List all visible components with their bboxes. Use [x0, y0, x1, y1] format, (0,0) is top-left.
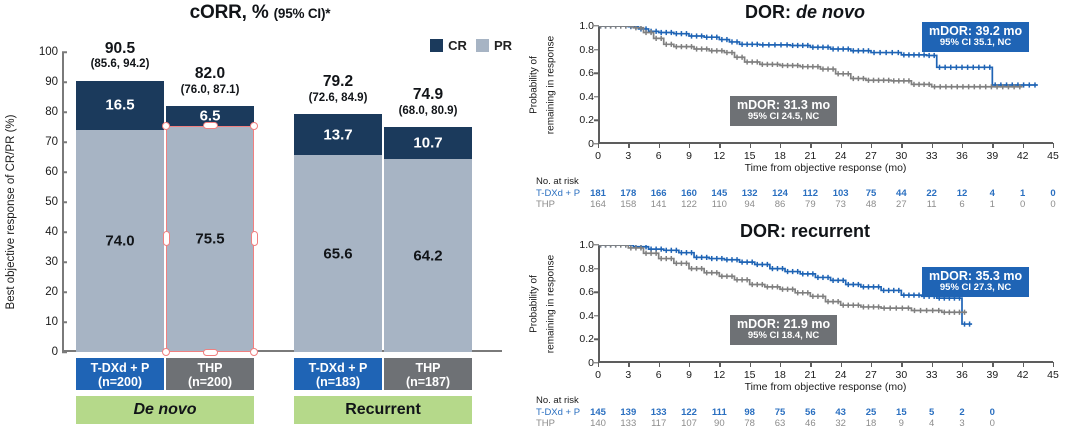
km-y-tick-label: 0.4 — [568, 91, 594, 103]
dor-recurrent-y-axis-label-line2: remaining in response — [546, 255, 557, 353]
dor-de-novo-x-axis-label: Time from objective response (mo) — [598, 162, 1053, 174]
risk-table-cell: 6 — [959, 199, 964, 210]
km-x-tick-label: 30 — [895, 369, 907, 381]
bar-y-tick-label: 100 — [28, 46, 58, 58]
risk-table-cell: 0 — [1050, 188, 1055, 199]
km-y-tick-label: 1.0 — [568, 20, 594, 32]
risk-table-cell: 140 — [590, 418, 606, 429]
median-dor-ci: 95% CI 18.4, NC — [737, 331, 830, 342]
legend-label-pr: PR — [494, 38, 512, 53]
legend-swatch-cr — [430, 39, 443, 52]
km-x-tick-label: 33 — [926, 150, 938, 162]
risk-table-cell: 103 — [833, 188, 849, 199]
km-x-tick-label: 21 — [804, 150, 816, 162]
risk-table-cell: 98 — [744, 407, 755, 418]
risk-table-cell: 111 — [712, 407, 727, 418]
risk-table-cell: 48 — [866, 199, 877, 210]
risk-table-cell: 2 — [959, 407, 964, 418]
bar-segment-cr-value: 16.5 — [76, 97, 164, 114]
km-y-tick-label: 0.6 — [568, 67, 594, 79]
risk-table-cell: 78 — [744, 418, 755, 429]
km-x-tick-label: 42 — [1017, 369, 1029, 381]
dor-recurrent-plot-area: 00.20.40.60.81.0036912151821242730333639… — [598, 245, 1053, 363]
bar-y-tick-mark — [62, 111, 67, 113]
risk-table-cell: 94 — [744, 199, 755, 210]
risk-table-cell: 3 — [959, 418, 964, 429]
risk-table-cell: 15 — [896, 407, 907, 418]
risk-table-cell: 0 — [1020, 199, 1025, 210]
km-x-tick-label: 18 — [774, 150, 786, 162]
bar-y-tick-label: 40 — [28, 226, 58, 238]
risk-table-cell: 4 — [990, 188, 995, 199]
bar-y-tick-mark — [62, 231, 67, 233]
median-dor-box-blue: mDOR: 39.2 mo95% CI 35.1, NC — [922, 22, 1029, 52]
legend-item-pr: PR — [476, 38, 512, 53]
dor-de-novo-y-axis-label: Probability of remaining in response — [534, 26, 566, 144]
risk-table-header: No. at risk — [536, 395, 579, 406]
risk-table-row-label: T-DXd + P — [536, 407, 580, 418]
risk-table-cell: 25 — [866, 407, 877, 418]
bar-segment-pr-value: 65.6 — [294, 245, 382, 262]
median-dor-box-gray: mDOR: 31.3 mo95% CI 24.5, NC — [730, 96, 837, 126]
selection-corner-handle[interactable] — [250, 348, 258, 356]
km-x-tick-mark — [1053, 362, 1054, 367]
risk-table-cell: 63 — [775, 418, 786, 429]
selection-rectangle[interactable] — [166, 126, 254, 353]
km-x-tick-label: 27 — [865, 369, 877, 381]
risk-table-cell: 27 — [896, 199, 907, 210]
risk-table-cell: 18 — [866, 418, 877, 429]
selection-edge-handle[interactable] — [203, 349, 218, 356]
dor-de-novo-title: DOR: de novo — [530, 2, 1080, 23]
bar-y-tick-label: 50 — [28, 196, 58, 208]
selection-side-handle[interactable] — [251, 231, 258, 246]
risk-table-cell: 43 — [835, 407, 846, 418]
risk-table-cell: 133 — [620, 418, 636, 429]
bar-segment-pr[interactable]: 64.2 — [384, 159, 472, 352]
dor-recurrent-title: DOR: recurrent — [530, 221, 1080, 242]
risk-table-header: No. at risk — [536, 176, 579, 187]
bar-total-value: 74.9 — [413, 86, 443, 103]
km-x-tick-label: 30 — [895, 150, 907, 162]
selection-corner-handle[interactable] — [162, 122, 170, 130]
figure-root: cORR, % (95% CI)* CR PR Best objective r… — [0, 0, 1080, 439]
risk-table-cell: 11 — [927, 199, 937, 210]
bar-total-label: 74.9(68.0, 80.9) — [370, 87, 486, 117]
bar-total-ci: (68.0, 80.9) — [370, 105, 486, 117]
group-label-box[interactable]: T-DXd + P(n=200) — [76, 358, 164, 390]
risk-table-cell: 122 — [681, 199, 697, 210]
risk-table-cell: 86 — [775, 199, 786, 210]
km-curve-tdxd — [598, 245, 972, 324]
km-x-tick-label: 9 — [686, 369, 692, 381]
bar-y-tick-label: 20 — [28, 286, 58, 298]
km-x-tick-label: 45 — [1047, 150, 1059, 162]
bar-segment-cr-value: 10.7 — [384, 135, 472, 152]
risk-table-row: THP164158141122110948679734827116100 — [536, 199, 1080, 211]
group-label-box[interactable]: T-DXd + P(n=183) — [294, 358, 382, 390]
group-label-name: T-DXd + P — [76, 361, 164, 375]
risk-table-cell: 0 — [990, 407, 995, 418]
risk-table-cell: 12 — [957, 188, 968, 199]
risk-table-cell: 124 — [772, 188, 788, 199]
km-y-tick-label: 0.4 — [568, 310, 594, 322]
km-x-tick-label: 0 — [595, 369, 601, 381]
km-x-tick-label: 18 — [774, 369, 786, 381]
median-dor-box-gray: mDOR: 21.9 mo95% CI 18.4, NC — [730, 315, 837, 345]
risk-table-cell: 75 — [775, 407, 786, 418]
risk-table-cell: 1 — [1020, 188, 1025, 199]
group-label-n: (n=200) — [166, 375, 254, 389]
km-x-tick-label: 15 — [744, 150, 756, 162]
km-y-tick-label: 0.2 — [568, 114, 594, 126]
km-x-tick-label: 24 — [835, 369, 847, 381]
selection-corner-handle[interactable] — [162, 348, 170, 356]
risk-table-cell: 110 — [712, 199, 727, 210]
bar-chart-legend: CR PR — [430, 38, 512, 53]
risk-table-cell: 178 — [620, 188, 636, 199]
km-x-tick-label: 24 — [835, 150, 847, 162]
bar-segment-pr[interactable]: 65.6 — [294, 155, 382, 352]
km-x-tick-label: 33 — [926, 369, 938, 381]
bar-total-value: 79.2 — [323, 73, 353, 90]
bar-chart-title-main: cORR, % — [190, 2, 269, 23]
risk-table-cell: 73 — [835, 199, 846, 210]
bar-segment-pr-value: 74.0 — [76, 233, 164, 250]
risk-table-cell: 79 — [805, 199, 816, 210]
risk-table-cell: 160 — [681, 188, 697, 199]
km-x-tick-label: 42 — [1017, 150, 1029, 162]
bar-y-tick-label: 60 — [28, 166, 58, 178]
category-band: De novo — [76, 396, 254, 424]
risk-table-cell: 164 — [590, 199, 606, 210]
bar-chart-title: cORR, % (95% CI)* — [0, 2, 520, 24]
risk-table-cell: 9 — [899, 418, 904, 429]
bar-y-tick-mark — [62, 201, 67, 203]
bar-y-tick-mark — [62, 171, 67, 173]
km-x-tick-label: 39 — [986, 369, 998, 381]
risk-table-row: THP1401331171079078634632189430 — [536, 418, 1080, 430]
risk-table-cell: 145 — [590, 407, 606, 418]
dor-de-novo-title-prefix: DOR: — [745, 2, 796, 22]
legend-swatch-pr — [476, 39, 489, 52]
km-x-tick-mark — [1053, 143, 1054, 148]
group-label-box[interactable]: THP(n=187) — [384, 358, 472, 390]
km-x-tick-label: 6 — [656, 369, 662, 381]
category-band: Recurrent — [294, 396, 472, 424]
risk-table-cell: 90 — [714, 418, 725, 429]
km-x-tick-label: 45 — [1047, 369, 1059, 381]
dor-de-novo-panel: DOR: de novo Probability of remaining in… — [530, 0, 1080, 219]
bar-segment-pr[interactable]: 74.0 — [76, 130, 164, 352]
bar-chart-y-axis-label-text: Best objective response of CR/PR (%) — [5, 115, 17, 310]
group-label-name: THP — [166, 361, 254, 375]
bar-total-value: 90.5 — [105, 40, 135, 57]
risk-table-cell: 0 — [1050, 199, 1055, 210]
risk-table-cell: 107 — [681, 418, 697, 429]
risk-table-cell: 56 — [805, 407, 816, 418]
group-label-n: (n=183) — [294, 375, 382, 389]
km-y-tick-label: 1.0 — [568, 239, 594, 251]
corr-bar-chart-panel: cORR, % (95% CI)* CR PR Best objective r… — [0, 0, 520, 439]
median-dor-box-blue: mDOR: 35.3 mo95% CI 27.3, NC — [922, 267, 1029, 297]
dor-recurrent-y-axis-label-line1: Probability of — [529, 275, 540, 333]
risk-table-cell: 141 — [651, 199, 667, 210]
bar-segment-cr[interactable]: 13.7 — [294, 114, 382, 155]
risk-table-cell: 112 — [803, 188, 818, 199]
median-dor-ci: 95% CI 24.5, NC — [737, 112, 830, 123]
bar-total-ci: (76.0, 87.1) — [152, 84, 268, 96]
km-x-tick-label: 0 — [595, 150, 601, 162]
bar-stack[interactable]: 74.016.5 — [76, 81, 164, 353]
bar-segment-cr[interactable]: 10.7 — [384, 127, 472, 159]
risk-table-cell: 122 — [681, 407, 697, 418]
km-x-tick-label: 36 — [956, 369, 968, 381]
bar-segment-cr-value: 13.7 — [294, 126, 382, 143]
bar-segment-pr-value: 64.2 — [384, 247, 472, 264]
dor-de-novo-y-axis-label-line1: Probability of — [529, 56, 540, 114]
km-y-tick-label: 0.8 — [568, 263, 594, 275]
km-x-tick-label: 9 — [686, 150, 692, 162]
bar-y-tick-mark — [62, 261, 67, 263]
bar-total-label: 82.0(76.0, 87.1) — [152, 66, 268, 96]
bar-chart-plot-area: 0102030405060708090100 74.016.590.5(85.6… — [62, 52, 502, 352]
risk-table-cell: 166 — [651, 188, 667, 199]
risk-table-cell: 139 — [620, 407, 636, 418]
km-x-tick-label: 3 — [625, 150, 631, 162]
bar-y-tick-mark — [62, 81, 67, 83]
selection-edge-handle[interactable] — [203, 122, 218, 129]
bar-y-tick-mark — [62, 291, 67, 293]
dor-de-novo-y-axis-label-line2: remaining in response — [546, 36, 557, 134]
risk-table-cell: 1 — [990, 199, 995, 210]
bar-y-tick-label: 70 — [28, 136, 58, 148]
km-y-tick-label: 0.8 — [568, 44, 594, 56]
selection-side-handle[interactable] — [163, 231, 170, 246]
km-x-tick-label: 27 — [865, 150, 877, 162]
bar-total-value: 82.0 — [195, 65, 225, 82]
risk-table-cell: 46 — [805, 418, 816, 429]
bar-y-tick-mark — [62, 321, 67, 323]
dor-recurrent-title-text: DOR: recurrent — [740, 221, 870, 241]
risk-table-cell: 32 — [835, 418, 846, 429]
km-x-tick-label: 6 — [656, 150, 662, 162]
legend-item-cr: CR — [430, 38, 467, 53]
km-y-tick-label: 0.2 — [568, 333, 594, 345]
risk-table-cell: 5 — [929, 407, 934, 418]
bar-y-tick-label: 30 — [28, 256, 58, 268]
median-dor-value: mDOR: 21.9 mo — [737, 317, 830, 331]
km-x-tick-label: 36 — [956, 150, 968, 162]
selection-corner-handle[interactable] — [250, 122, 258, 130]
risk-table-cell: 158 — [620, 199, 636, 210]
risk-table-cell: 117 — [651, 418, 666, 429]
bar-chart-y-axis-label: Best objective response of CR/PR (%) — [2, 72, 20, 352]
dor-recurrent-panel: DOR: recurrent Probability of remaining … — [530, 219, 1080, 439]
risk-table-cell: 4 — [929, 418, 934, 429]
risk-table-cell: 22 — [926, 188, 937, 199]
km-x-tick-label: 12 — [713, 369, 725, 381]
risk-table-row-label: T-DXd + P — [536, 188, 580, 199]
bar-segment-cr[interactable]: 16.5 — [76, 81, 164, 131]
km-y-tick-label: 0.6 — [568, 286, 594, 298]
risk-table-cell: 44 — [896, 188, 907, 199]
bar-chart-title-sub: (95% CI)* — [274, 6, 331, 21]
group-label-box[interactable]: THP(n=200) — [166, 358, 254, 390]
median-dor-value: mDOR: 35.3 mo — [929, 269, 1022, 283]
km-x-tick-label: 15 — [744, 369, 756, 381]
bar-y-tick-label: 0 — [28, 346, 58, 358]
risk-table-row-label: THP — [536, 199, 555, 210]
km-curve-thp — [598, 245, 967, 312]
bar-stack[interactable]: 64.210.7 — [384, 127, 472, 352]
km-x-tick-label: 12 — [713, 150, 725, 162]
dor-recurrent-y-axis-label: Probability of remaining in response — [534, 245, 566, 363]
bar-stack[interactable]: 65.613.7 — [294, 114, 382, 352]
median-dor-ci: 95% CI 35.1, NC — [929, 38, 1022, 49]
km-censor-marks — [601, 245, 965, 315]
risk-table-cell: 145 — [711, 188, 727, 199]
km-x-tick-label: 3 — [625, 369, 631, 381]
risk-table-cell: 132 — [742, 188, 758, 199]
km-x-tick-label: 39 — [986, 150, 998, 162]
group-label-n: (n=200) — [76, 375, 164, 389]
bar-y-tick-label: 80 — [28, 106, 58, 118]
dor-recurrent-x-axis-label: Time from objective response (mo) — [598, 381, 1053, 393]
median-dor-value: mDOR: 39.2 mo — [929, 24, 1022, 38]
group-label-name: T-DXd + P — [294, 361, 382, 375]
bar-y-tick-mark — [62, 141, 67, 143]
km-x-tick-label: 21 — [804, 369, 816, 381]
median-dor-value: mDOR: 31.3 mo — [737, 98, 830, 112]
km-y-tick-label: 0 — [568, 138, 594, 150]
risk-table-row-label: THP — [536, 418, 555, 429]
risk-table-cell: 0 — [990, 418, 995, 429]
dor-de-novo-title-suffix: de novo — [796, 2, 865, 22]
km-curves — [598, 245, 1053, 363]
median-dor-ci: 95% CI 27.3, NC — [929, 283, 1022, 294]
legend-label-cr: CR — [448, 38, 467, 53]
km-y-tick-label: 0 — [568, 357, 594, 369]
risk-table-cell: 181 — [590, 188, 606, 199]
group-label-n: (n=187) — [384, 375, 472, 389]
bar-y-tick-label: 10 — [28, 316, 58, 328]
risk-table-cell: 133 — [651, 407, 667, 418]
bar-y-tick-mark — [62, 351, 67, 353]
bar-y-tick-label: 90 — [28, 76, 58, 88]
group-label-name: THP — [384, 361, 472, 375]
risk-table-cell: 75 — [866, 188, 877, 199]
